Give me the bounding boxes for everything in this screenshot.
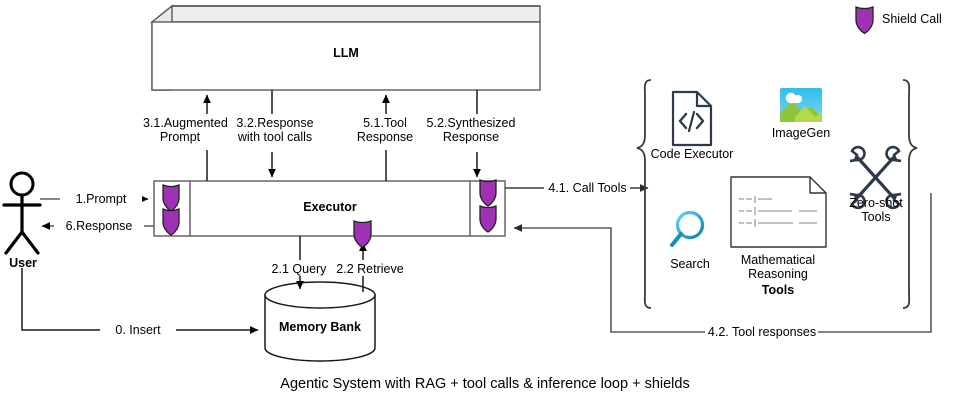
llm-label: LLM [0,46,692,60]
shield-icon-memory-retrieve [354,221,371,248]
tool-label-search: Search [662,257,718,271]
tools-brace-left [637,80,651,308]
legend-shield-label: Shield Call [882,12,968,26]
edge-label-prompt: 1.Prompt [60,192,142,206]
edge-label-insert: 0. Insert [100,323,176,337]
tool-label-math-reasoning: MathematicalReasoning [722,253,834,281]
tools-brace-right [903,80,917,308]
user-node [4,173,40,253]
edge-label-response: 6.Response [54,219,144,233]
diagram-canvas: LLM Executor Memory Bank User 3.1.Augmen… [0,0,970,411]
tools-group-label: Tools [733,283,823,297]
executor-label: Executor [190,200,470,214]
magnifier-icon [672,213,703,246]
shield-icon-legend [856,7,873,34]
tool-label-zero-shot-tools: Zero-shotTools [838,196,914,224]
diagram-caption: Agentic System with RAG + tool calls & i… [0,377,970,391]
edge-label-query: 2.1 Query [268,262,330,276]
tool-label-code-executor: Code Executor [648,147,736,161]
edge-label-tool-responses: 4.2. Tool responses [706,325,818,339]
edge-label-response-with-tool-calls: 3.2.Responsewith tool calls [231,116,319,144]
tool-label-imagegen: ImageGen [762,126,840,140]
edge-label-synthesized-response: 5.2.SynthesizedResponse [424,116,518,144]
user-label: User [0,256,46,270]
diagram-vector-layer [0,0,970,411]
image-picture-icon [780,88,822,122]
edge-insert [22,268,258,330]
formula-document-icon [731,177,826,247]
edge-label-retrieve: 2.2 Retrieve [333,262,407,276]
edge-label-call-tools: 4.1. Call Tools [545,181,630,195]
edge-label-augmented-prompt: 3.1.AugmentedPrompt [143,116,217,144]
edge-label-tool-response: 5.1.ToolResponse [349,116,421,144]
code-document-icon [673,92,711,145]
memory-bank-label: Memory Bank [265,320,375,334]
